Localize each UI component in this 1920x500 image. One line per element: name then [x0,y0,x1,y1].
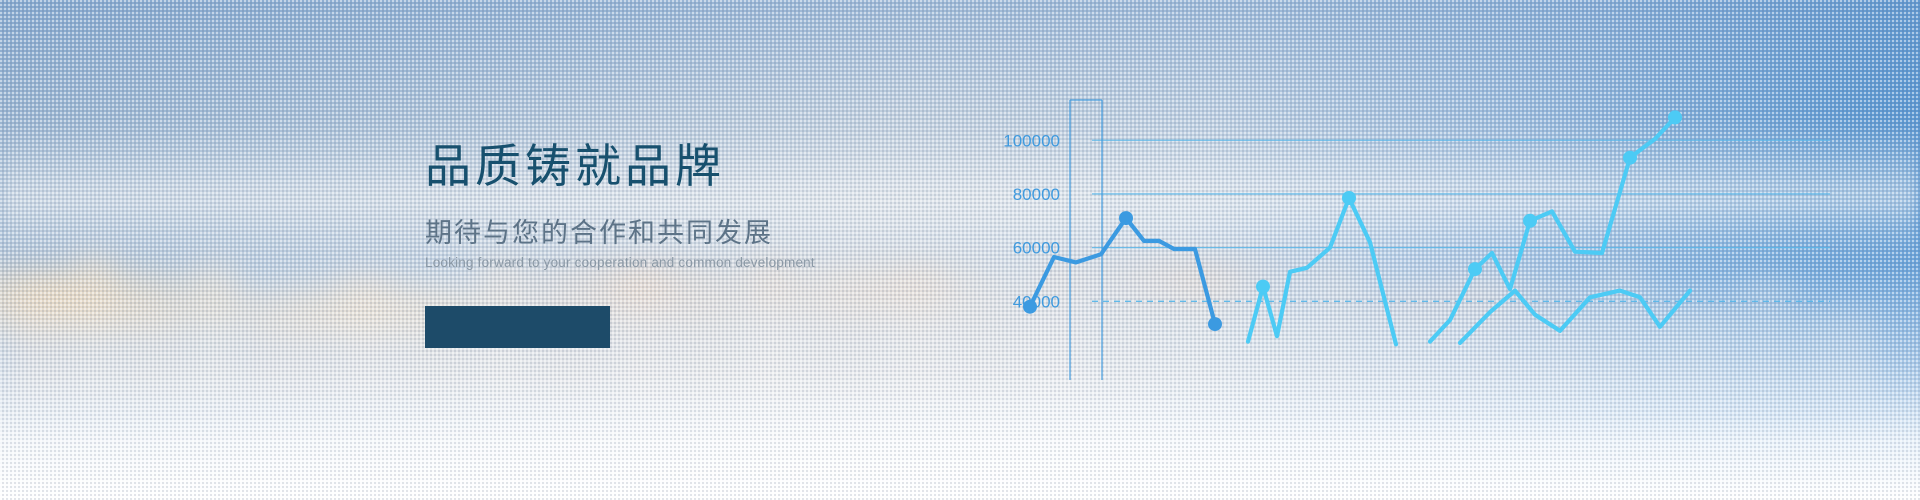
chart-line-series-4 [1460,291,1690,343]
chart-marker-series-3-0 [1468,262,1482,276]
page-title: 品质铸就品牌 [425,140,985,193]
chart-marker-series-1-0 [1023,300,1037,314]
y-axis-tick-80000: 80000 [1013,185,1060,204]
line-chart: 400006000080000100000 [930,80,1920,420]
chart-marker-series-3-2 [1623,151,1637,165]
chart-marker-series-2-0 [1256,280,1270,294]
chart-marker-series-1-1 [1119,211,1133,225]
chart-marker-series-3-3 [1668,110,1682,124]
chart-line-series-2 [1248,198,1396,344]
chart-marker-series-2-1 [1342,191,1356,205]
banner-subtitle: 期待与您的合作和共同发展 [425,217,985,249]
chart-marker-series-1-2 [1208,317,1222,331]
chart-canvas: 400006000080000100000 [930,80,1920,420]
cta-button[interactable] [425,306,610,348]
chart-marker-series-3-1 [1523,214,1537,228]
banner-text-block: 品质铸就品牌 期待与您的合作和共同发展 Looking forward to y… [425,140,985,270]
y-axis-tick-100000: 100000 [1003,131,1060,150]
chart-line-series-3 [1430,117,1675,341]
banner-subtitle-english: Looking forward to your cooperation and … [425,255,985,270]
promo-banner: 品质铸就品牌 期待与您的合作和共同发展 Looking forward to y… [0,0,1920,500]
y-axis-tick-60000: 60000 [1013,239,1060,258]
